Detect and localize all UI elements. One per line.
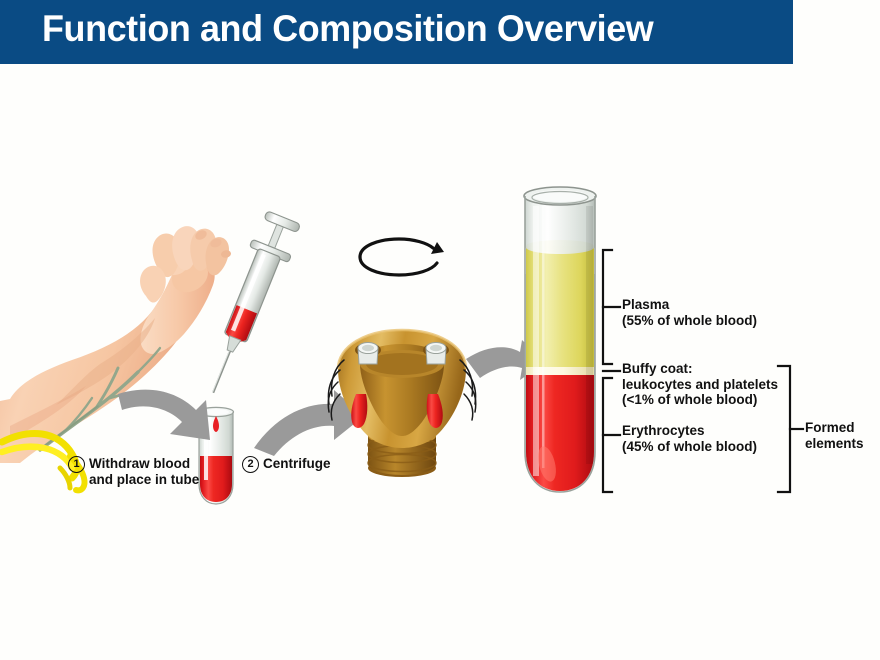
step-2-number: 2	[242, 456, 259, 473]
rotation-arrow-icon	[360, 239, 444, 275]
centrifuge-tube-right	[423, 343, 449, 365]
label-erythrocytes: Erythrocytes (45% of whole blood)	[622, 423, 757, 454]
label-formed-elements: Formed elements	[805, 420, 864, 451]
step-1-caption: 1Withdraw blood and place in tube	[68, 440, 199, 488]
title-bar: Function and Composition Overview	[0, 0, 793, 64]
step-1-number: 1	[68, 456, 85, 473]
separated-tube-icon	[524, 187, 596, 492]
flow-arrow-icon	[118, 390, 210, 440]
step-2-label: Centrifuge	[263, 456, 331, 472]
step-2-caption: 2Centrifuge	[242, 440, 331, 473]
label-plasma: Plasma (55% of whole blood)	[622, 297, 757, 328]
page-title: Function and Composition Overview	[42, 8, 653, 50]
step-1-label: Withdraw blood and place in tube	[89, 456, 199, 488]
centrifuge-icon	[328, 239, 475, 477]
label-buffy-coat: Buffy coat: leukocytes and platelets (<1…	[622, 361, 778, 408]
centrifuge-tube-left	[355, 343, 381, 365]
